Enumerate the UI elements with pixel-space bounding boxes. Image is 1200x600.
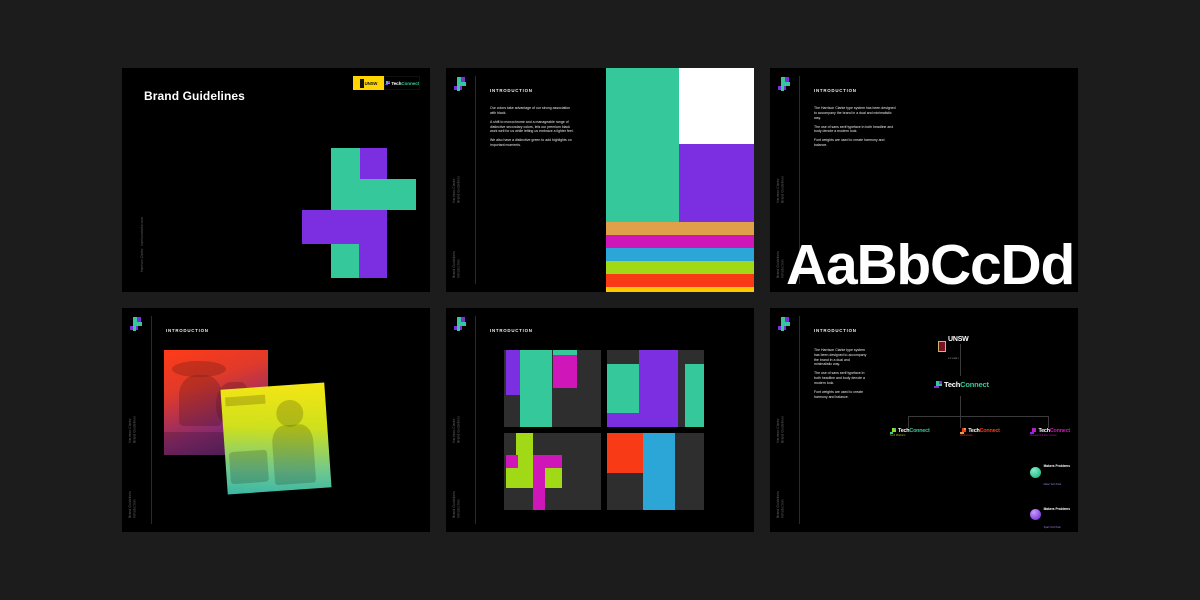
product-badge-icon: [1030, 467, 1041, 478]
slide-body-copy: The Harrison Clarke type system has been…: [814, 348, 868, 404]
techconnect-plus-icon: [385, 81, 390, 86]
slide-cover[interactable]: Brand Guidelines UNSW TechConnect Harris…: [122, 68, 430, 292]
slide-brand-architecture[interactable]: Harrison ClarkeBrand Guidelines Brand Gu…: [770, 308, 1078, 532]
rail-vertical-label-mid: Harrison ClarkeBrand Guidelines: [452, 176, 461, 203]
slide-kicker: INTRODUCTION: [814, 328, 857, 333]
techconnect-plus-icon: [960, 428, 966, 434]
unsw-crest-icon: [360, 79, 364, 88]
slide-kicker: INTRODUCTION: [490, 328, 533, 333]
slide-kicker: INTRODUCTION: [814, 88, 857, 93]
product-sublabel: Maker Tech Pack: [1044, 484, 1062, 486]
swatch-blue: [606, 248, 754, 261]
swatch-primary-purple: [679, 144, 754, 222]
slide-graphic-elements[interactable]: Harrison ClarkeBrand Guidelines Brand Gu…: [446, 308, 754, 532]
composition-red-blue: [607, 433, 704, 510]
list-item: Makers Problems Spark Tech Pack: [1030, 497, 1070, 533]
cover-credit: Harrison Clarke harrisonclarke.com: [140, 217, 145, 272]
connector-master-stem: [960, 396, 961, 416]
techconnect-logo: TechConnect: [1030, 428, 1070, 434]
slide-kicker: INTRODUCTION: [490, 88, 533, 93]
composition-green-purple-magenta: [504, 350, 601, 427]
rail-divider: [475, 76, 476, 284]
rail-divider: [799, 316, 800, 524]
graphic-composition-grid: [504, 350, 704, 510]
rail-vertical-label-low: Brand GuidelinesIntroduction: [452, 251, 461, 278]
rail-vertical-label-low: Brand GuidelinesIntroduction: [452, 491, 461, 518]
swatch-tan-orange: [606, 222, 754, 235]
swatch-magenta: [606, 235, 754, 248]
page-title: Brand Guidelines: [144, 89, 245, 103]
tree-root-unsw: UNSW SYDNEY: [938, 328, 969, 364]
brand-mark-icon: [454, 317, 467, 331]
brand-mark-icon: [778, 317, 791, 331]
rail-vertical-label-low: Brand GuidelinesIntroduction: [776, 251, 785, 278]
swatch-lime: [606, 261, 754, 274]
connector-root-to-master: [960, 344, 961, 376]
techconnect-plus-icon: [934, 381, 942, 389]
techconnect-wordmark: TechConnect: [944, 380, 989, 389]
slide-rail: Harrison ClarkeBrand Guidelines Brand Gu…: [446, 68, 476, 292]
rail-vertical-label-mid: Harrison ClarkeBrand Guidelines: [776, 176, 785, 203]
unsw-wordmark: UNSW: [365, 81, 378, 86]
tree-child-descriptor: Workshops: [960, 435, 1000, 437]
techconnect-wordmark: TechConnect: [1038, 428, 1070, 434]
unsw-logo: UNSW: [353, 76, 384, 90]
brand-mark-icon: [454, 77, 467, 91]
hero-brand-mark-icon: [302, 148, 416, 278]
brand-architecture-tree: UNSW SYDNEY TechConnect: [890, 320, 1070, 525]
tree-master-brand: TechConnect: [934, 380, 989, 389]
swatch-white: [679, 68, 754, 144]
swatch-red-orange: [606, 274, 754, 287]
techconnect-logo: TechConnect: [960, 428, 1000, 434]
brand-mark-icon: [130, 317, 143, 331]
rail-vertical-label-mid: Harrison ClarkeBrand Guidelines: [128, 416, 137, 443]
rail-vertical-label-low: Brand GuidelinesIntroduction: [776, 491, 785, 518]
type-specimen: AaBbCcDd: [786, 232, 1074, 292]
connector-to-child-3: [1048, 416, 1049, 428]
techconnect-logo: TechConnect: [890, 428, 930, 434]
composition-purple-green: [607, 350, 704, 427]
slide-colour[interactable]: Harrison ClarkeBrand Guidelines Brand Gu…: [446, 68, 754, 292]
slide-typography[interactable]: Harrison ClarkeBrand Guidelines Brand Gu…: [770, 68, 1078, 292]
connector-to-child-2: [960, 416, 961, 428]
connector-to-child-1: [908, 416, 909, 428]
tree-child-descriptor: Tech Platform: [890, 435, 930, 437]
colour-palette-blocks: [606, 68, 754, 292]
rail-vertical-label-mid: Harrison ClarkeBrand Guidelines: [776, 416, 785, 443]
slide-body-copy: The Harrison Clarke type system has been…: [814, 106, 898, 152]
rail-vertical-label-mid: Harrison ClarkeBrand Guidelines: [452, 416, 461, 443]
techconnect-wordmark: TechConnect: [391, 81, 419, 86]
slide-deck-grid: Brand Guidelines UNSW TechConnect Harris…: [0, 0, 1200, 600]
techconnect-logo: TechConnect: [934, 380, 989, 389]
photo-texture: [220, 383, 331, 495]
product-sublabel: Spark Tech Pack: [1044, 527, 1061, 529]
product-badge-icon: [1030, 509, 1041, 520]
tree-child-1: TechConnect Tech Platform: [890, 428, 930, 437]
product-badge-list: Makers Problems Maker Tech Pack Makers P…: [1030, 454, 1070, 532]
list-item: Makers Problems Maker Tech Pack: [1030, 454, 1070, 490]
techconnect-plus-icon: [1030, 428, 1036, 434]
slide-photography[interactable]: Harrison ClarkeBrand Guidelines Brand Gu…: [122, 308, 430, 532]
slide-rail: Harrison ClarkeBrand Guidelines Brand Gu…: [122, 308, 152, 532]
product-name: Makers Problems: [1044, 507, 1070, 511]
techconnect-plus-icon: [890, 428, 896, 434]
composition-lime-magenta: [504, 433, 601, 510]
slide-body-copy: Our colors take advantage of our strong …: [490, 106, 574, 152]
cover-logo-lockup: UNSW TechConnect: [353, 76, 420, 90]
tree-child-row: TechConnect Tech Platform TechConnect: [890, 428, 1070, 437]
duotone-photo-yellow-green: [220, 383, 331, 495]
tree-root-sublabel: SYDNEY: [948, 358, 959, 360]
slide-rail: Harrison ClarkeBrand Guidelines Brand Gu…: [446, 308, 476, 532]
tree-child-3: TechConnect Research & Dev Centre: [1030, 428, 1070, 437]
rail-divider: [475, 316, 476, 524]
product-name: Makers Problems: [1044, 464, 1070, 468]
slide-kicker: INTRODUCTION: [166, 328, 209, 333]
techconnect-logo: TechConnect: [384, 76, 420, 90]
rail-vertical-label-low: Brand GuidelinesIntroduction: [128, 491, 137, 518]
tree-root-label: UNSW: [948, 336, 969, 343]
rail-divider: [151, 316, 152, 524]
swatch-primary-green: [606, 68, 679, 222]
slide-rail: Harrison ClarkeBrand Guidelines Brand Gu…: [770, 308, 800, 532]
techconnect-wordmark: TechConnect: [968, 428, 1000, 434]
tree-child-descriptor: Research & Dev Centre: [1030, 435, 1070, 437]
unsw-crest-icon: [938, 341, 946, 352]
connector-horizontal-bus: [908, 416, 1048, 417]
techconnect-wordmark: TechConnect: [898, 428, 930, 434]
tree-child-2: TechConnect Workshops: [960, 428, 1000, 437]
swatch-yellow: [606, 287, 754, 292]
brand-mark-icon: [778, 77, 791, 91]
